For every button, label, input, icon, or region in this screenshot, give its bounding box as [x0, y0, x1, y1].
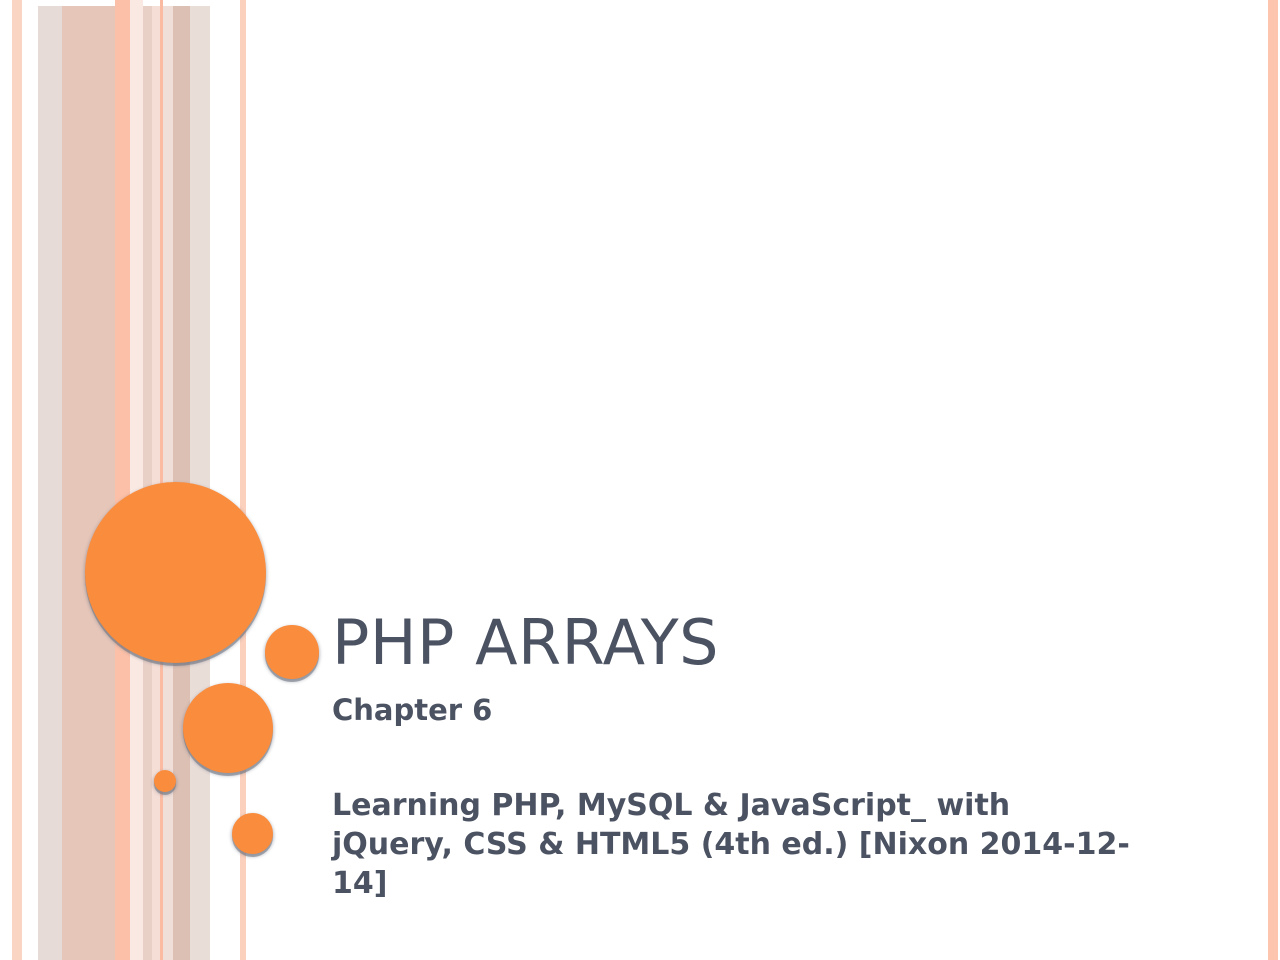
presentation-slide: PHP ARRAYS Chapter 6 Learning PHP, MySQL… — [0, 0, 1280, 960]
circle-tiny — [154, 770, 176, 792]
stripe-orange-hairline — [160, 0, 163, 960]
stripe-pink-3 — [143, 6, 152, 960]
stripe-peach-2 — [115, 0, 130, 960]
chapter-label: Chapter 6 — [332, 674, 1152, 725]
circle-large — [85, 482, 266, 663]
stripe-peach-edge — [12, 0, 22, 960]
stripe-peach-right-edge — [1268, 0, 1278, 960]
slide-text-block: PHP ARRAYS Chapter 6 Learning PHP, MySQL… — [332, 612, 1152, 903]
circle-medium — [183, 683, 273, 773]
circle-small-tab — [265, 625, 319, 679]
slide-title: PHP ARRAYS — [332, 612, 1152, 674]
stripe-dusty-pink-wide — [62, 6, 115, 960]
source-reference: Learning PHP, MySQL & JavaScript_ with j… — [332, 725, 1132, 903]
stripe-blush-light — [130, 0, 143, 960]
circle-small-low — [232, 813, 273, 854]
stripe-warm-gray-1 — [38, 6, 62, 960]
